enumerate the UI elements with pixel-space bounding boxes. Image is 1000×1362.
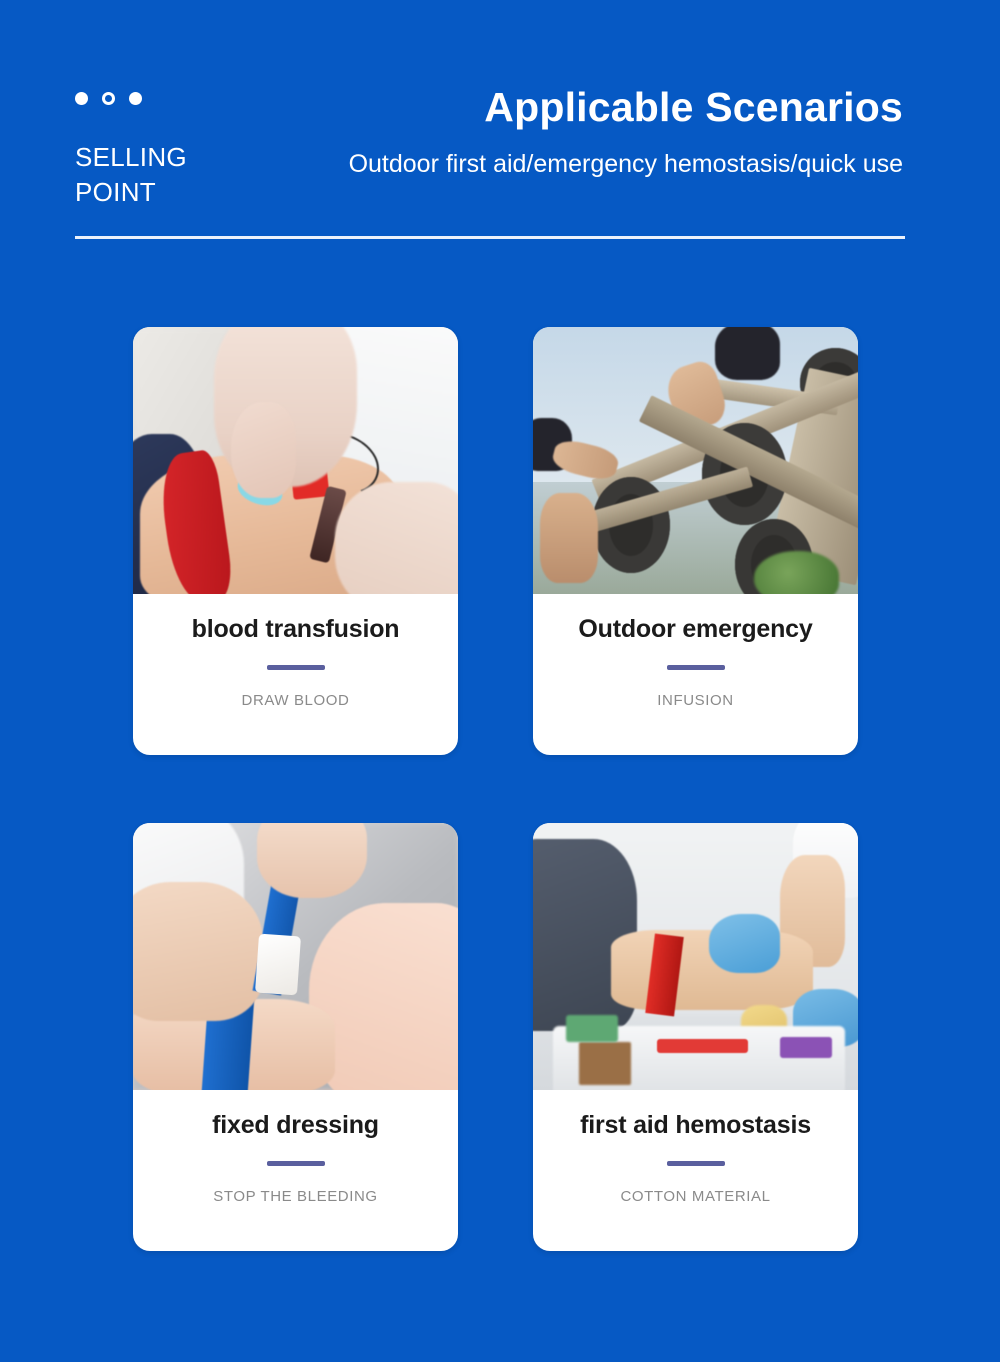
dot-hollow-2-icon <box>102 92 115 105</box>
card-photo-outdoor-emergency <box>533 327 858 594</box>
card-subtitle: STOP THE BLEEDING <box>213 1188 377 1205</box>
scenario-card-fixed-dressing[interactable]: fixed dressing STOP THE BLEEDING <box>133 823 458 1251</box>
selling-point-line2: POINT <box>75 175 187 210</box>
photo-layer-red-tube <box>657 1039 748 1052</box>
photo-layer-wood-block <box>579 1042 631 1085</box>
card-title: first aid hemostasis <box>580 1111 811 1140</box>
card-title: blood transfusion <box>192 615 400 644</box>
card-divider <box>267 1161 325 1166</box>
scenario-card-first-aid-hemostasis[interactable]: first aid hemostasis COTTON MATERIAL <box>533 823 858 1251</box>
selling-point-dots <box>75 92 142 105</box>
card-photo-blood-transfusion <box>133 327 458 594</box>
card-body-fixed-dressing: fixed dressing STOP THE BLEEDING <box>133 1090 458 1251</box>
card-divider <box>667 665 725 670</box>
card-subtitle: DRAW BLOOD <box>242 692 350 709</box>
photo-layer-foliage <box>754 551 839 594</box>
dot-filled-1-icon <box>75 92 88 105</box>
photo-layer-hand-upper <box>257 823 368 898</box>
selling-point-line1: SELLING <box>75 140 187 175</box>
card-photo-first-aid-hemostasis <box>533 823 858 1090</box>
photo-layer-finger <box>231 402 296 498</box>
photo-layer-person-top <box>715 327 780 380</box>
scenario-card-grid: blood transfusion DRAW BLOOD Out <box>133 327 858 1251</box>
photo-layer-white-buckle <box>255 934 301 996</box>
photo-layer-blue-glove-1 <box>709 914 781 973</box>
card-divider <box>267 665 325 670</box>
photo-layer-practitioner-arm <box>133 882 263 1021</box>
card-subtitle: INFUSION <box>657 692 733 709</box>
photo-layer-person-left-leg <box>540 493 599 584</box>
scenario-card-outdoor-emergency[interactable]: Outdoor emergency INFUSION <box>533 327 858 755</box>
photo-layer-gloved-hand-lower <box>335 482 459 594</box>
card-body-first-aid-hemostasis: first aid hemostasis COTTON MATERIAL <box>533 1090 858 1251</box>
page-title: Applicable Scenarios <box>484 84 903 131</box>
selling-point-label: SELLING POINT <box>75 140 187 209</box>
photo-layer-green-tube <box>566 1015 618 1042</box>
card-subtitle: COTTON MATERIAL <box>620 1188 770 1205</box>
scenario-card-blood-transfusion[interactable]: blood transfusion DRAW BLOOD <box>133 327 458 755</box>
page-subtitle: Outdoor first aid/emergency hemostasis/q… <box>349 150 903 179</box>
photo-layer-purple-tube <box>780 1037 832 1058</box>
card-body-outdoor-emergency: Outdoor emergency INFUSION <box>533 594 858 755</box>
card-divider <box>667 1161 725 1166</box>
card-body-blood-transfusion: blood transfusion DRAW BLOOD <box>133 594 458 755</box>
card-title: fixed dressing <box>212 1111 379 1140</box>
page-header: SELLING POINT Applicable Scenarios Outdo… <box>0 0 1000 250</box>
header-divider <box>75 236 905 239</box>
dot-filled-3-icon <box>129 92 142 105</box>
card-title: Outdoor emergency <box>578 615 812 644</box>
card-photo-fixed-dressing <box>133 823 458 1090</box>
